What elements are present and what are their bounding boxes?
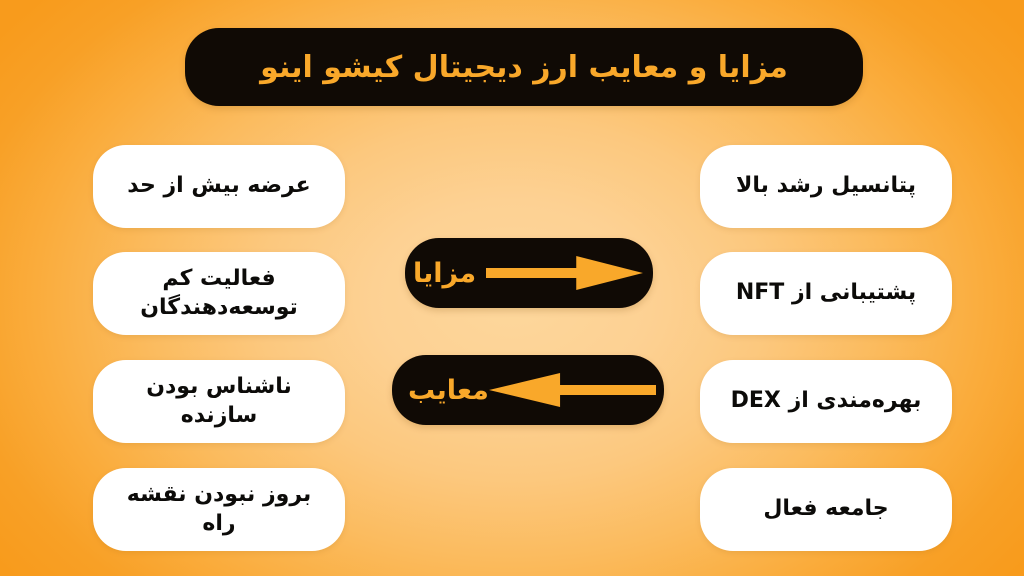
- page-title: مزایا و معایب ارز دیجیتال کیشو اینو: [260, 51, 788, 84]
- cons-card-4: بروز نبودن نقشه راه: [93, 468, 345, 551]
- cons-card-1-label: عرضه بیش از حد: [127, 172, 310, 200]
- arrow-left-icon: [489, 369, 656, 411]
- cons-card-4-label: بروز نبودن نقشه راه: [107, 481, 331, 537]
- cons-card-1: عرضه بیش از حد: [93, 145, 345, 228]
- cons-arrow-badge: معایب: [392, 355, 664, 425]
- cons-card-2: فعالیت کم توسعه‌دهندگان: [93, 252, 345, 335]
- pros-card-4: جامعه فعال: [700, 468, 952, 551]
- pros-card-2: پشتیبانی از NFT: [700, 252, 952, 335]
- pros-card-2-label: پشتیبانی از NFT: [736, 279, 916, 307]
- pros-card-1-label: پتانسیل رشد بالا: [736, 172, 916, 200]
- pros-arrow-badge-label: مزایا: [413, 260, 486, 287]
- infographic-canvas: مزایا و معایب ارز دیجیتال کیشو اینو عرضه…: [0, 0, 1024, 576]
- arrow-right-icon: [486, 252, 643, 294]
- cons-card-2-label: فعالیت کم توسعه‌دهندگان: [140, 265, 298, 321]
- pros-card-3: بهره‌مندی از DEX: [700, 360, 952, 443]
- pros-card-4-label: جامعه فعال: [763, 495, 888, 523]
- cons-card-3-label: ناشناس بودن سازنده: [107, 373, 331, 429]
- cons-arrow-badge-label: معایب: [400, 377, 489, 404]
- cons-card-3: ناشناس بودن سازنده: [93, 360, 345, 443]
- pros-card-3-label: بهره‌مندی از DEX: [731, 387, 922, 415]
- pros-arrow-badge: مزایا: [405, 238, 653, 308]
- pros-card-1: پتانسیل رشد بالا: [700, 145, 952, 228]
- page-title-badge: مزایا و معایب ارز دیجیتال کیشو اینو: [185, 28, 863, 106]
